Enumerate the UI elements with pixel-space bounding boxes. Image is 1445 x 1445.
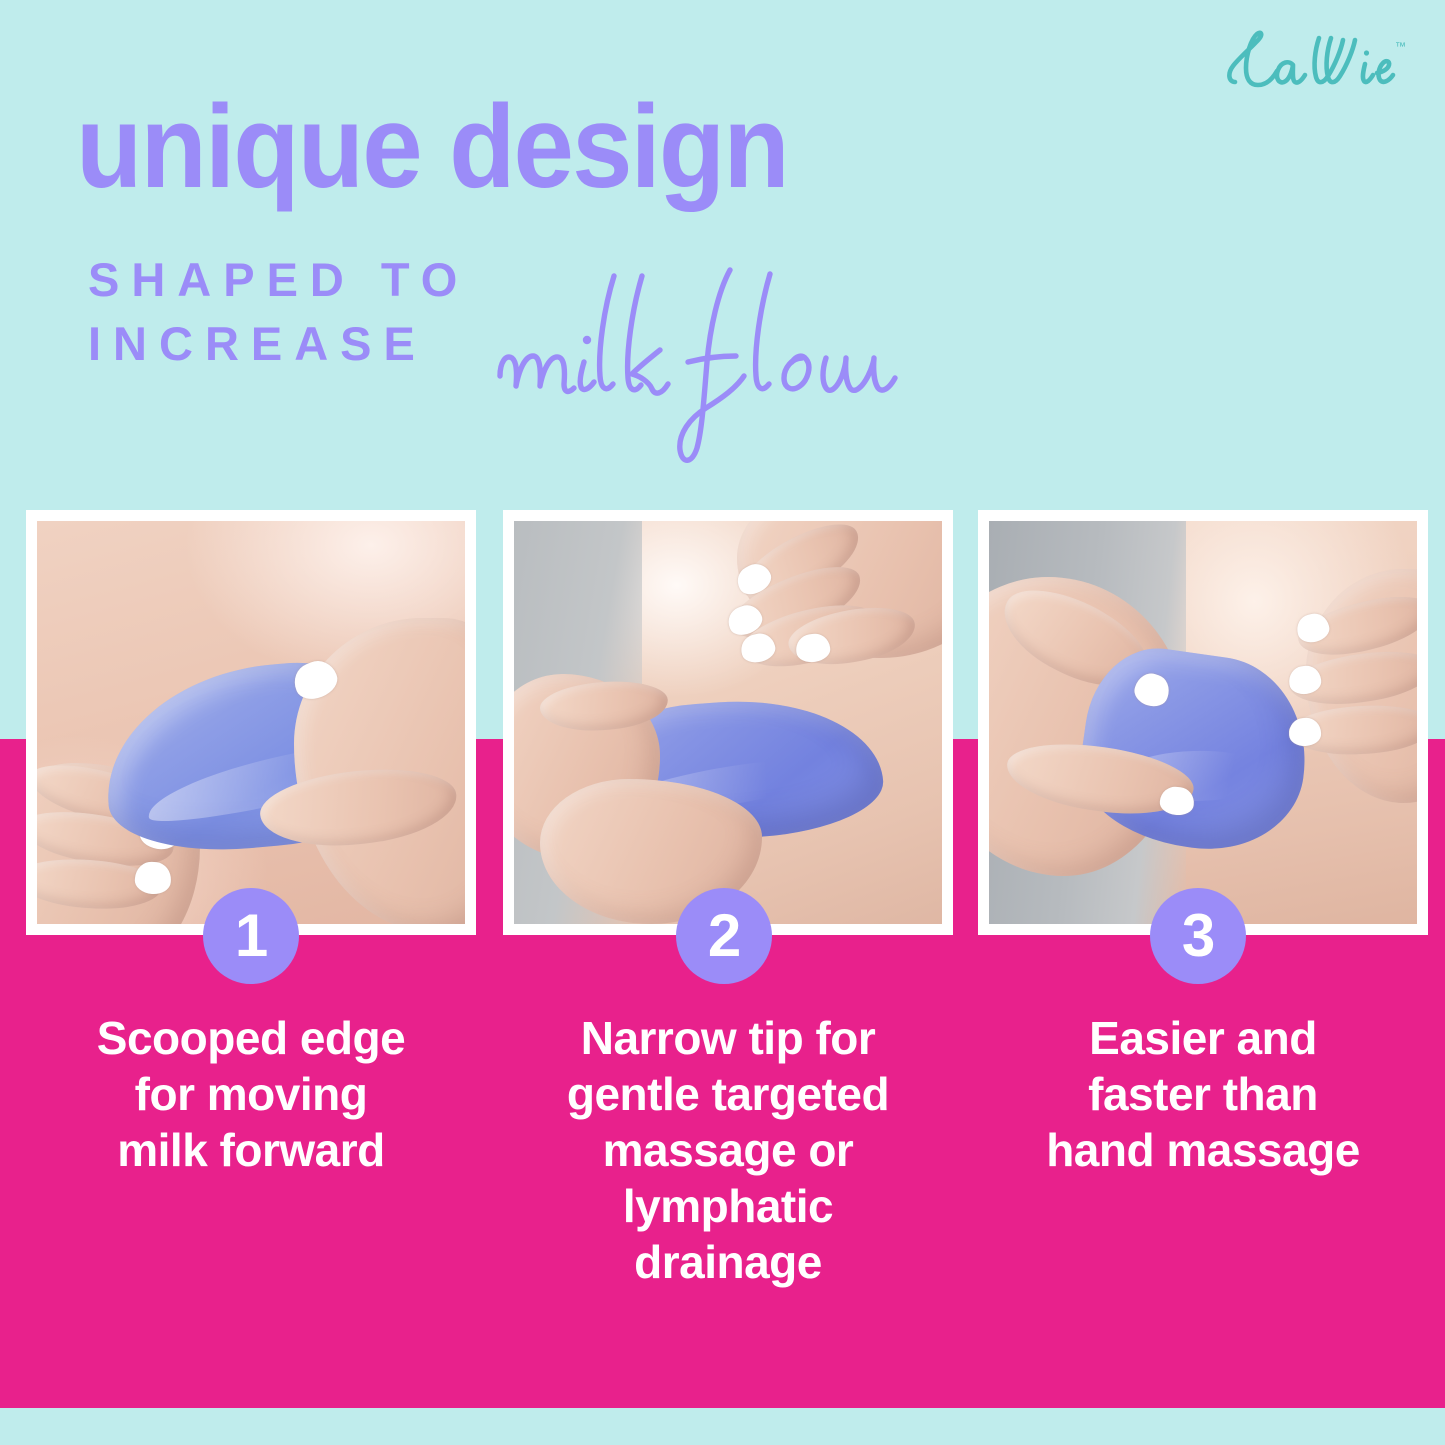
step-photo-card-2 [503,510,953,935]
mint-background-bottom [0,1408,1445,1445]
step-photo-2 [514,521,942,924]
step-caption-3: Easier and faster than hand massage [983,1010,1423,1178]
headline: unique design [76,88,788,206]
step-badge-3: 3 [1150,888,1246,984]
step-badge-2: 2 [676,888,772,984]
caption-line: Easier and [983,1010,1423,1066]
step-photo-card-3 [978,510,1428,935]
caption-line: Narrow tip for [508,1010,948,1066]
step-badge-1: 1 [203,888,299,984]
trademark-symbol: ™ [1395,41,1406,53]
caption-line: Scooped edge [31,1010,471,1066]
caption-line: hand massage [983,1122,1423,1178]
caption-line: massage or [508,1122,948,1178]
caption-line: gentle targeted [508,1066,948,1122]
step-photo-1 [37,521,465,924]
infographic-canvas: ™ unique design SHAPED TO INCREASE [0,0,1445,1445]
subhead-line-2: INCREASE [88,316,427,371]
caption-line: drainage [508,1234,948,1290]
subhead-line-1: SHAPED TO [88,252,469,307]
caption-line: lymphatic [508,1178,948,1234]
caption-line: milk forward [31,1122,471,1178]
lavie-logo: ™ [1219,22,1409,102]
caption-line: for moving [31,1066,471,1122]
step-caption-1: Scooped edge for moving milk forward [31,1010,471,1178]
step-photo-3 [989,521,1417,924]
caption-line: faster than [983,1066,1423,1122]
step-caption-2: Narrow tip for gentle targeted massage o… [508,1010,948,1291]
step-photo-card-1 [26,510,476,935]
script-milk-flow [492,258,1032,488]
